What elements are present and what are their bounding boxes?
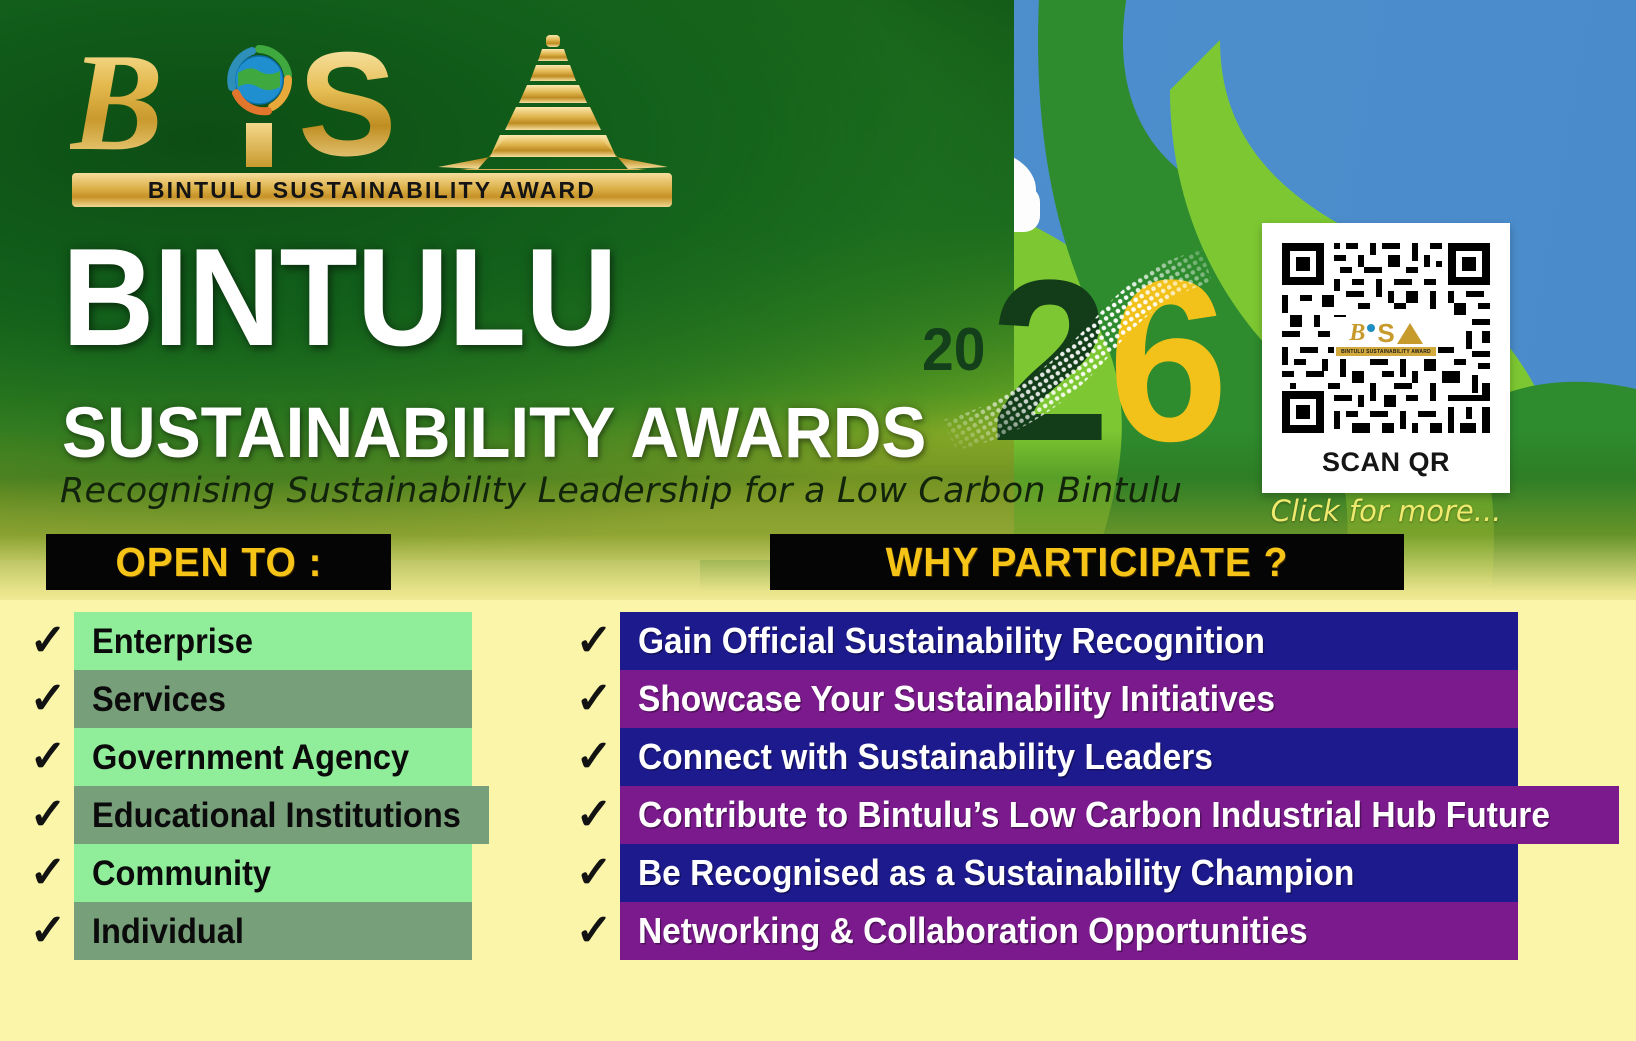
list-item-label: Connect with Sustainability Leaders (638, 739, 1213, 775)
qr-embedded-logo: B S BINTULU SUSTAINABILITY AWARD (1334, 317, 1438, 359)
qr-logo-tower-icon (1397, 323, 1423, 344)
list-item-pill: Gain Official Sustainability Recognition (620, 612, 1518, 670)
year-graphic: 6 2 20 (912, 238, 1222, 493)
list-item[interactable]: ✓ Educational Institutions (22, 786, 472, 844)
why-participate-header-label: WHY PARTICIPATE ? (886, 539, 1289, 586)
list-item-label: Showcase Your Sustainability Initiatives (638, 681, 1275, 717)
why-participate-header: WHY PARTICIPATE ? (770, 534, 1404, 590)
qr-code-image[interactable]: B S BINTULU SUSTAINABILITY AWARD (1274, 235, 1498, 441)
list-item[interactable]: ✓ Contribute to Bintulu’s Low Carbon Ind… (568, 786, 1518, 844)
logo-band-text: BINTULU SUSTAINABILITY AWARD (148, 177, 596, 204)
check-icon: ✓ (22, 851, 74, 895)
list-item-label: Individual (92, 914, 244, 949)
list-item[interactable]: ✓ Individual (22, 902, 472, 960)
logo-letter-s: S (298, 31, 397, 179)
list-item-label: Be Recognised as a Sustainability Champi… (638, 855, 1354, 891)
list-item-pill: Showcase Your Sustainability Initiatives (620, 670, 1518, 728)
list-item-pill: Connect with Sustainability Leaders (620, 728, 1518, 786)
page-subtitle: SUSTAINABILITY AWARDS (62, 398, 926, 469)
list-item[interactable]: ✓ Gain Official Sustainability Recogniti… (568, 612, 1518, 670)
list-item-pill: Individual (74, 902, 472, 960)
globe-icon (222, 43, 296, 117)
qr-logo-globe-icon (1367, 324, 1375, 332)
qr-logo-letter-b: B (1349, 321, 1365, 345)
check-icon: ✓ (568, 909, 620, 953)
list-item-label: Enterprise (92, 624, 253, 659)
list-item[interactable]: ✓ Government Agency (22, 728, 472, 786)
list-item[interactable]: ✓ Showcase Your Sustainability Initiativ… (568, 670, 1518, 728)
tower-icon (438, 35, 668, 170)
list-item[interactable]: ✓ Community (22, 844, 472, 902)
check-icon: ✓ (568, 793, 620, 837)
check-icon: ✓ (22, 735, 74, 779)
why-participate-list: ✓ Gain Official Sustainability Recogniti… (568, 612, 1518, 960)
page-title: BINTULU (62, 228, 617, 367)
check-icon: ✓ (568, 851, 620, 895)
open-to-header: OPEN TO : (46, 534, 391, 590)
list-item-label: Gain Official Sustainability Recognition (638, 623, 1265, 659)
list-item-pill: Be Recognised as a Sustainability Champi… (620, 844, 1518, 902)
check-icon: ✓ (568, 735, 620, 779)
list-item[interactable]: ✓ Enterprise (22, 612, 472, 670)
list-item[interactable]: ✓ Be Recognised as a Sustainability Cham… (568, 844, 1518, 902)
logo-letter-b: B (70, 33, 163, 173)
list-item-label: Services (92, 682, 226, 717)
list-item-label: Contribute to Bintulu’s Low Carbon Indus… (638, 797, 1550, 833)
check-icon: ✓ (568, 619, 620, 663)
list-item-pill: Networking & Collaboration Opportunities (620, 902, 1518, 960)
list-item-label: Networking & Collaboration Opportunities (638, 913, 1308, 949)
list-item-pill: Government Agency (74, 728, 472, 786)
list-item[interactable]: ✓ Services (22, 670, 472, 728)
check-icon: ✓ (22, 677, 74, 721)
list-item-pill: Services (74, 670, 472, 728)
qr-label: SCAN QR (1274, 447, 1498, 478)
qr-click-link[interactable]: Click for more... (1262, 494, 1510, 528)
qr-code-card[interactable]: B S BINTULU SUSTAINABILITY AWARD SCAN QR (1262, 223, 1510, 493)
halftone-swoosh (912, 238, 1222, 498)
list-item-label: Community (92, 856, 271, 891)
logo-band: BINTULU SUSTAINABILITY AWARD (72, 173, 672, 207)
list-item-pill: Educational Institutions (74, 786, 489, 844)
bisa-logo[interactable]: B S (70, 25, 680, 215)
check-icon: ✓ (22, 793, 74, 837)
check-icon: ✓ (22, 619, 74, 663)
poster: B S (0, 0, 1636, 1041)
list-item-label: Government Agency (92, 740, 409, 775)
list-item[interactable]: ✓ Connect with Sustainability Leaders (568, 728, 1518, 786)
list-item-pill: Community (74, 844, 472, 902)
list-item-pill: Contribute to Bintulu’s Low Carbon Indus… (620, 786, 1619, 844)
qr-logo-row: B S (1349, 320, 1422, 346)
open-to-list: ✓ Enterprise ✓ Services ✓ Government Age… (22, 612, 472, 960)
list-item[interactable]: ✓ Networking & Collaboration Opportuniti… (568, 902, 1518, 960)
open-to-header-label: OPEN TO : (115, 539, 322, 586)
logo-letter-i-stem (246, 123, 272, 167)
list-item-pill: Enterprise (74, 612, 472, 670)
list-item-label: Educational Institutions (92, 798, 461, 833)
qr-logo-letter-s: S (1377, 320, 1394, 346)
check-icon: ✓ (568, 677, 620, 721)
logo-marks: B S (70, 25, 680, 170)
qr-logo-band-text: BINTULU SUSTAINABILITY AWARD (1336, 347, 1436, 356)
check-icon: ✓ (22, 909, 74, 953)
